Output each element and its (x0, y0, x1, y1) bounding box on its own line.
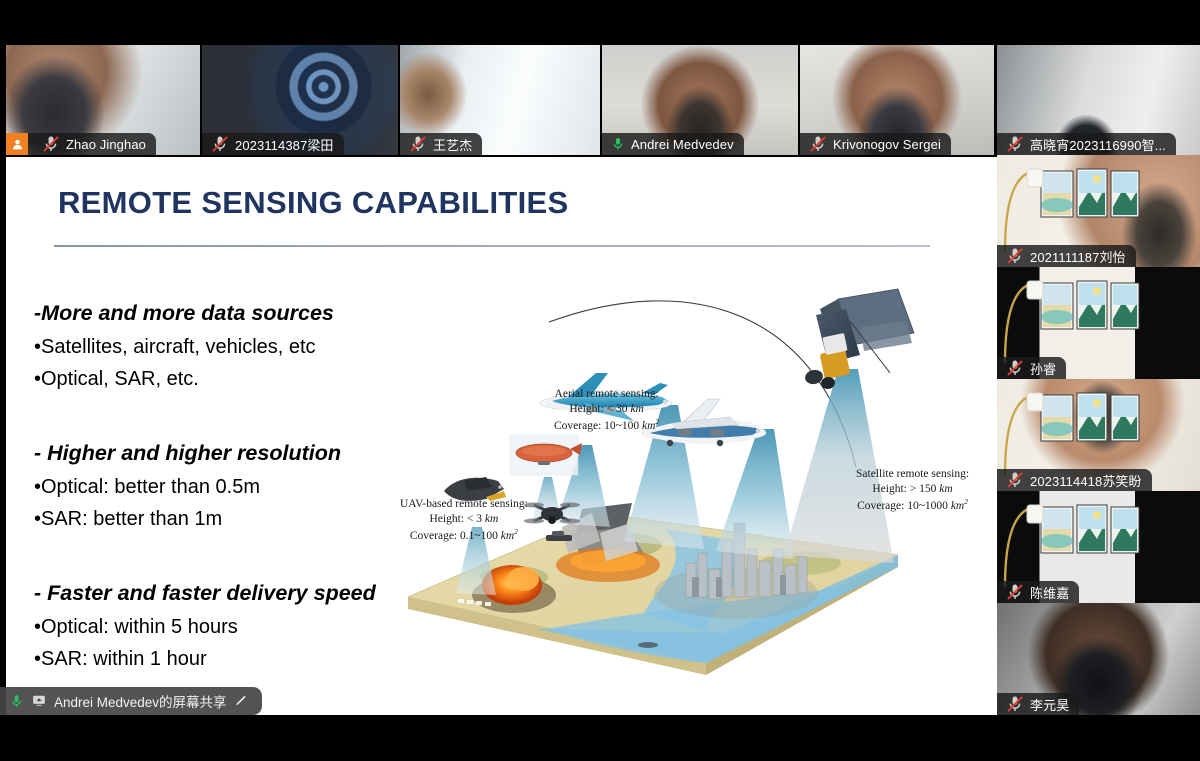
microphone-muted-icon (1005, 246, 1025, 266)
slide-block-2: - Faster and faster delivery speed •Opti… (34, 581, 376, 672)
zoom-meeting-window: Zhao Jinghao 2023114387梁田 王艺杰 Andrei Med… (0, 0, 1200, 761)
page-title: REMOTE SENSING CAPABILITIES (58, 185, 568, 221)
participant-name-bar: 2023114387梁田 (202, 133, 344, 155)
annotation-line: Coverage: 0.1~100 km2 (400, 527, 528, 544)
block-bullet: •Optical: better than 0.5m (34, 474, 341, 500)
participant-name: 2023114418苏笑盼 (1030, 471, 1142, 490)
participant-name: 2023114387梁田 (235, 135, 334, 154)
microphone-muted-icon (1005, 470, 1025, 490)
participant-name: Andrei Medvedev (631, 137, 734, 152)
annotation-line: UAV-based remote sensing: (400, 497, 528, 512)
aircraft-beam (716, 429, 794, 559)
slide-block-1: - Higher and higher resolution •Optical:… (34, 441, 341, 532)
video-tile-3[interactable]: Andrei Medvedev (602, 45, 798, 155)
block-bullet: •SAR: within 1 hour (34, 646, 376, 672)
share-bar-label: Andrei Medvedev的屏幕共享 (54, 691, 227, 711)
video-tile-2[interactable]: 王艺杰 (400, 45, 600, 155)
title-divider (54, 245, 930, 247)
participant-name-bar: Krivonogov Sergei (800, 133, 951, 155)
video-tile-4[interactable]: Krivonogov Sergei (800, 45, 994, 155)
sidebar-video-tile-2[interactable]: 2023114418苏笑盼 (997, 379, 1200, 491)
participant-name: 孙睿 (1030, 359, 1056, 378)
block-heading: -More and more data sources (34, 301, 334, 326)
screen-share-icon (31, 694, 47, 708)
airship-icon (510, 435, 582, 475)
participant-name-bar: 2023114418苏笑盼 (997, 469, 1152, 491)
sidebar-video-tile-3[interactable]: 陈维嘉 (997, 491, 1200, 603)
participant-name-bar: 高晓宵2023116990智... (997, 133, 1176, 155)
annotation-line: Aerial remote sensing: (554, 387, 659, 402)
participant-name-bar: 孙睿 (997, 357, 1066, 379)
annotation-line: Height: > 150 km (856, 482, 969, 497)
participant-name-bar: 2021111187刘怡 (997, 245, 1136, 267)
microphone-muted-icon (1005, 134, 1025, 154)
annotation-aerial: Aerial remote sensing: Height: < 30 km C… (554, 387, 659, 434)
microphone-muted-icon (1005, 358, 1025, 378)
satellite-beam (784, 369, 894, 563)
video-tile-1[interactable]: 2023114387梁田 (202, 45, 398, 155)
participant-name-bar: Zhao Jinghao (6, 133, 156, 155)
participant-name: 陈维嘉 (1030, 583, 1069, 602)
microphone-muted-icon (408, 134, 428, 154)
participant-sidebar: 2021111187刘怡 孙睿 2023 (997, 155, 1200, 715)
participant-name: Zhao Jinghao (66, 137, 146, 152)
screen-share-status-bar[interactable]: Andrei Medvedev的屏幕共享 (0, 687, 262, 715)
annotation-line: Height: < 30 km (554, 402, 659, 417)
participant-name: Krivonogov Sergei (833, 137, 941, 152)
shared-screen-slide: REMOTE SENSING CAPABILITIES -More and mo… (6, 157, 997, 715)
annotate-pencil-icon[interactable] (234, 694, 248, 708)
participant-name-bar: 陈维嘉 (997, 581, 1079, 603)
host-badge-icon (6, 133, 28, 155)
participant-name-bar: 李元昊 (997, 693, 1079, 715)
block-bullet: •SAR: better than 1m (34, 506, 341, 532)
video-tile-5[interactable]: 高晓宵2023116990智... (997, 45, 1200, 155)
annotation-line: Coverage: 10~1000 km2 (856, 497, 969, 514)
microphone-on-icon (610, 135, 626, 153)
participant-name: 李元昊 (1030, 695, 1069, 714)
participant-name-bar: 王艺杰 (400, 133, 482, 155)
microphone-on-icon (9, 693, 24, 710)
sidebar-video-tile-1[interactable]: 孙睿 (997, 267, 1200, 379)
microphone-muted-icon (1005, 694, 1025, 714)
block-bullet: •Satellites, aircraft, vehicles, etc (34, 334, 334, 360)
microphone-muted-icon (41, 134, 61, 154)
slide-block-0: -More and more data sources •Satellites,… (34, 301, 334, 392)
video-filmstrip: Zhao Jinghao 2023114387梁田 王艺杰 Andrei Med… (0, 45, 1200, 155)
participant-name: 王艺杰 (433, 135, 472, 154)
block-bullet: •Optical: within 5 hours (34, 614, 376, 640)
block-bullet: •Optical, SAR, etc. (34, 366, 334, 392)
annotation-line: Coverage: 10~100 km2 (554, 417, 659, 434)
annotation-uav: UAV-based remote sensing: Height: < 3 km… (400, 497, 528, 544)
video-tile-0[interactable]: Zhao Jinghao (6, 45, 200, 155)
participant-name: 2021111187刘怡 (1030, 247, 1126, 266)
microphone-muted-icon (210, 134, 230, 154)
participant-name-bar: Andrei Medvedev (602, 133, 744, 155)
participant-name: 高晓宵2023116990智... (1030, 135, 1166, 154)
microphone-muted-icon (1005, 582, 1025, 602)
annotation-satellite: Satellite remote sensing: Height: > 150 … (856, 467, 969, 514)
sidebar-video-tile-0[interactable]: 2021111187刘怡 (997, 155, 1200, 267)
microphone-muted-icon (808, 134, 828, 154)
annotation-line: Height: < 3 km (400, 512, 528, 527)
sidebar-video-tile-4[interactable]: 李元昊 (997, 603, 1200, 715)
block-heading: - Higher and higher resolution (34, 441, 341, 466)
block-heading: - Faster and faster delivery speed (34, 581, 376, 606)
annotation-line: Satellite remote sensing: (856, 467, 969, 482)
remote-sensing-diagram: Aerial remote sensing: Height: < 30 km C… (386, 277, 986, 707)
